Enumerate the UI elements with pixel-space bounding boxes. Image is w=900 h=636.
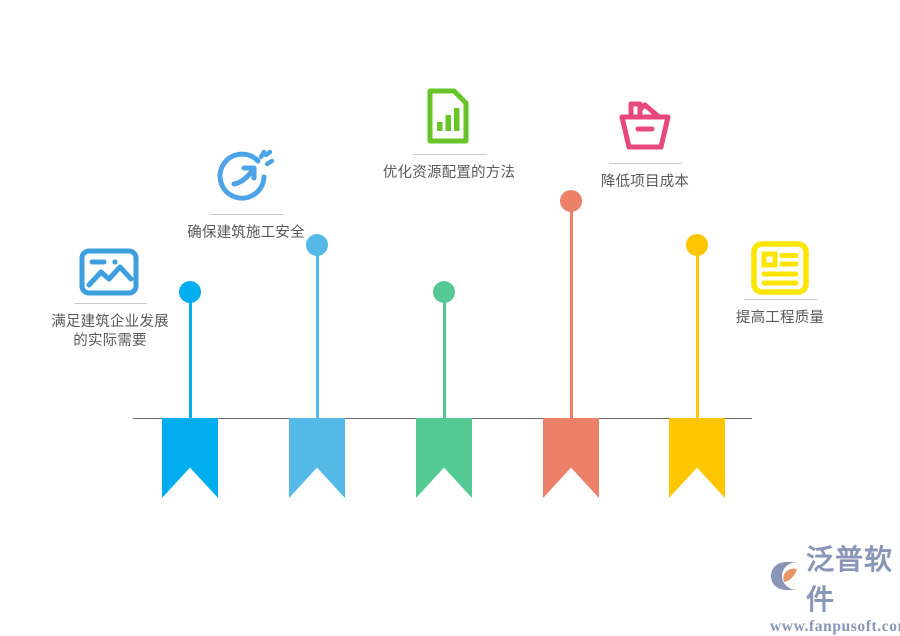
label-divider bbox=[210, 214, 283, 215]
node-label-1: 满足建筑企业发展 的实际需要 bbox=[32, 303, 188, 351]
infographic-canvas: 满足建筑企业发展 的实际需要 确保建筑施工安全 优化资源配置的方法 降低项目成本… bbox=[0, 0, 900, 600]
label-divider bbox=[413, 154, 486, 155]
pin-dot-1 bbox=[179, 281, 201, 303]
item-label: 提高工程质量 bbox=[719, 309, 841, 328]
icon-basket-minus bbox=[614, 97, 676, 159]
item-label: 降低项目成本 bbox=[584, 173, 706, 192]
pin-stem-4 bbox=[570, 201, 573, 418]
label-divider bbox=[609, 163, 682, 164]
node-label-3: 优化资源配置的方法 bbox=[369, 154, 529, 183]
icon-document-barchart bbox=[416, 85, 478, 147]
pin-stem-2 bbox=[316, 245, 319, 418]
fanpu-logo: 泛普软件 www.fanpusoft.com bbox=[768, 538, 900, 636]
flag-banner-5 bbox=[669, 418, 725, 498]
pin-stem-3 bbox=[443, 292, 446, 418]
pin-dot-4 bbox=[560, 190, 582, 212]
node-label-2: 确保建筑施工安全 bbox=[170, 214, 322, 243]
flag-banner-2 bbox=[289, 418, 345, 498]
label-divider bbox=[74, 303, 147, 304]
item-label: 满足建筑企业发展 的实际需要 bbox=[32, 313, 188, 351]
pin-stem-1 bbox=[189, 292, 192, 418]
item-label: 优化资源配置的方法 bbox=[369, 164, 529, 183]
pin-dot-5 bbox=[686, 234, 708, 256]
logo-company-name: 泛普软件 bbox=[806, 538, 900, 618]
flag-banner-1 bbox=[162, 418, 218, 498]
logo-top-row: 泛普软件 bbox=[768, 538, 900, 618]
icon-article-list bbox=[749, 237, 811, 299]
item-label: 确保建筑施工安全 bbox=[170, 224, 322, 243]
node-label-4: 降低项目成本 bbox=[584, 163, 706, 192]
pin-dot-3 bbox=[433, 281, 455, 303]
icon-target-arrow bbox=[214, 147, 276, 209]
icon-image-photo bbox=[78, 241, 140, 303]
logo-website-url: www.fanpusoft.com bbox=[770, 618, 900, 636]
flag-banner-4 bbox=[543, 418, 599, 498]
node-label-5: 提高工程质量 bbox=[719, 299, 841, 328]
fanpu-logo-mark-icon bbox=[768, 560, 802, 597]
flag-banner-3 bbox=[416, 418, 472, 498]
pin-stem-5 bbox=[696, 245, 699, 418]
label-divider bbox=[744, 299, 817, 300]
